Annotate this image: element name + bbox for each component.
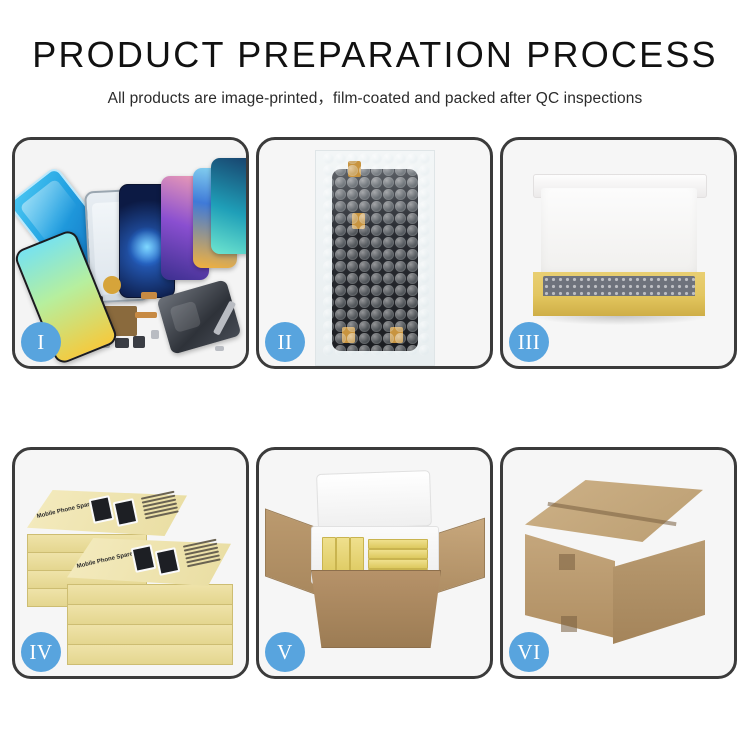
bubble [359, 225, 370, 236]
bubble [347, 165, 358, 176]
bubble [419, 225, 430, 236]
bubble [371, 249, 382, 260]
bubble [395, 309, 406, 320]
inner-yellow-box-6 [368, 559, 428, 569]
bubble [419, 237, 430, 248]
bubble [323, 165, 334, 176]
inner-yellow-box-4 [368, 539, 428, 549]
bubble [359, 189, 370, 200]
bubble [347, 201, 358, 212]
bubble [371, 285, 382, 296]
bubble [347, 321, 358, 332]
speaker-module-part-icon [103, 276, 121, 294]
bubble [323, 297, 334, 308]
bubble [383, 333, 394, 344]
bubble [359, 177, 370, 188]
bubble [323, 201, 334, 212]
bubble [335, 261, 346, 272]
kraft-box-front-icon [533, 296, 705, 316]
bubble [371, 225, 382, 236]
bubble [407, 309, 418, 320]
bubble [359, 345, 370, 356]
bubble [371, 177, 382, 188]
bubble [359, 153, 370, 164]
bubble [419, 177, 430, 188]
bubble [335, 237, 346, 248]
process-step-grid: I II III [12, 137, 738, 679]
bubble [419, 333, 430, 344]
process-step-panel-3[interactable]: III [500, 137, 737, 369]
bubble [335, 153, 346, 164]
bubble [359, 321, 370, 332]
bubble [335, 189, 346, 200]
bubble [419, 201, 430, 212]
bubble [419, 261, 430, 272]
bubble [383, 321, 394, 332]
carton-tape-patch-bottom-icon [561, 616, 577, 632]
step-badge-1: I [21, 322, 61, 362]
bubble [407, 177, 418, 188]
bubble [335, 285, 346, 296]
panel-4-illustration: Mobile Phone Spare Parts Mobile Phone Sp… [15, 450, 246, 676]
bubble [383, 285, 394, 296]
bubble [419, 165, 430, 176]
bubble [347, 225, 358, 236]
bubble [347, 309, 358, 320]
process-step-panel-2[interactable]: II [256, 137, 493, 369]
bubble [323, 273, 334, 284]
copper-connector-part-icon [141, 292, 157, 299]
step-badge-3: III [509, 322, 549, 362]
bubble [383, 273, 394, 284]
screw-small-part-icon [215, 346, 224, 351]
bubble [395, 321, 406, 332]
bubble [323, 285, 334, 296]
stacked-box-front-3 [67, 624, 233, 645]
bubble [419, 321, 430, 332]
bubble [323, 225, 334, 236]
bubble [395, 225, 406, 236]
panel-6-illustration: VI [503, 450, 734, 676]
bubble [419, 153, 430, 164]
bubble [371, 237, 382, 248]
bubble [395, 177, 406, 188]
panel-3-illustration: III [503, 140, 734, 366]
bubble [395, 249, 406, 260]
bubble [359, 201, 370, 212]
camera-module-part-icon [115, 338, 129, 348]
bubble [323, 153, 334, 164]
teal-gradient-phone-icon [211, 158, 246, 254]
bubble [323, 249, 334, 260]
bubble [383, 345, 394, 356]
bubble [335, 165, 346, 176]
panel-1-illustration: I [15, 140, 246, 366]
carton-body-icon [311, 570, 441, 648]
bubble [407, 237, 418, 248]
bubble [383, 213, 394, 224]
process-step-panel-1[interactable]: I [12, 137, 249, 369]
bubble [323, 333, 334, 344]
bubble [371, 321, 382, 332]
bubble [395, 345, 406, 356]
bubble [335, 225, 346, 236]
bubble [407, 273, 418, 284]
bubble [395, 165, 406, 176]
step-badge-2: II [265, 322, 305, 362]
bubble [407, 201, 418, 212]
bubble [323, 261, 334, 272]
carton-right-face-icon [613, 540, 705, 644]
bubble [371, 201, 382, 212]
bubble-wrap-bag-icon [315, 150, 435, 366]
bubble [347, 297, 358, 308]
bubble [335, 201, 346, 212]
white-foam-sheet-icon [541, 188, 697, 280]
bubble [359, 237, 370, 248]
bubble [347, 177, 358, 188]
carton-top-face-icon [525, 480, 703, 542]
bubble [407, 261, 418, 272]
bubble [383, 201, 394, 212]
bubble [383, 297, 394, 308]
bubble [323, 189, 334, 200]
bubble [407, 189, 418, 200]
bubble [371, 213, 382, 224]
bubble [407, 345, 418, 356]
bubble [323, 213, 334, 224]
bubble [359, 213, 370, 224]
bubble [383, 225, 394, 236]
step-badge-6: VI [509, 632, 549, 672]
bubble [383, 309, 394, 320]
bubble [419, 213, 430, 224]
bubble [359, 309, 370, 320]
panel-2-illustration: II [259, 140, 490, 366]
bubble [371, 273, 382, 284]
bubble [419, 309, 430, 320]
bubble-field [316, 151, 434, 365]
bubble [371, 345, 382, 356]
bubble [383, 261, 394, 272]
bubble [395, 273, 406, 284]
bubble [347, 213, 358, 224]
panel-5-illustration: V [259, 450, 490, 676]
bubble [371, 297, 382, 308]
bubble [407, 297, 418, 308]
bubble [371, 261, 382, 272]
page-header: PRODUCT PREPARATION PROCESS All products… [0, 0, 750, 108]
bubble [383, 237, 394, 248]
foam-box-lid-icon [316, 470, 432, 530]
bubble [395, 153, 406, 164]
bubble [395, 189, 406, 200]
bubble [419, 249, 430, 260]
stacked-box-front-4 [67, 644, 233, 665]
bubble [371, 165, 382, 176]
bubble [383, 189, 394, 200]
stacked-box-front-1 [67, 584, 233, 605]
bubble [395, 285, 406, 296]
bubble [419, 285, 430, 296]
step-badge-4: IV [21, 632, 61, 672]
process-step-panel-4[interactable]: Mobile Phone Spare Parts Mobile Phone Sp… [12, 447, 249, 679]
bubble [359, 333, 370, 344]
bubble [383, 153, 394, 164]
bubble [395, 201, 406, 212]
stacked-box-front-2 [67, 604, 233, 625]
bubble [347, 249, 358, 260]
bubble [347, 153, 358, 164]
bubble [323, 177, 334, 188]
bubble [395, 261, 406, 272]
bubble [323, 321, 334, 332]
bubble [371, 153, 382, 164]
bubble [347, 333, 358, 344]
bubble [347, 261, 358, 272]
bubble [407, 333, 418, 344]
inner-yellow-box-5 [368, 549, 428, 559]
bubble [359, 273, 370, 284]
bubble [335, 213, 346, 224]
bubble [395, 237, 406, 248]
box-shadow [533, 316, 707, 325]
bubble [395, 213, 406, 224]
bubble [419, 345, 430, 356]
process-step-panel-6[interactable]: VI [500, 447, 737, 679]
bubble [419, 297, 430, 308]
bubble [371, 333, 382, 344]
step-badge-5: V [265, 632, 305, 672]
bubble [347, 189, 358, 200]
bubble [359, 297, 370, 308]
bubble [407, 249, 418, 260]
vibrator-part-icon [133, 336, 145, 348]
bubble [371, 309, 382, 320]
bubble [371, 189, 382, 200]
bubble [335, 321, 346, 332]
bubble [395, 297, 406, 308]
bubble [359, 285, 370, 296]
ribbon-cable-part-icon [135, 312, 157, 318]
bubble [383, 177, 394, 188]
bubble [335, 309, 346, 320]
bubble [407, 285, 418, 296]
bubble [407, 321, 418, 332]
bubble [335, 333, 346, 344]
bubble [419, 273, 430, 284]
bubble [383, 165, 394, 176]
bubble [407, 165, 418, 176]
bubble [407, 225, 418, 236]
bubble [395, 333, 406, 344]
bubble [335, 345, 346, 356]
bubble [323, 345, 334, 356]
bubble [359, 261, 370, 272]
bubble [359, 249, 370, 260]
process-step-panel-5[interactable]: V [256, 447, 493, 679]
screw-part-icon [151, 330, 159, 339]
bubble [347, 285, 358, 296]
bubble [347, 345, 358, 356]
bubble [323, 309, 334, 320]
carton-tape-patch-top-icon [559, 554, 575, 570]
bubble [347, 237, 358, 248]
bubble [335, 297, 346, 308]
bubble [359, 165, 370, 176]
bubble [383, 249, 394, 260]
bubble [335, 273, 346, 284]
bubble [335, 249, 346, 260]
page-title: PRODUCT PREPARATION PROCESS [0, 36, 750, 74]
bubble [407, 153, 418, 164]
bubble [419, 189, 430, 200]
bubble [335, 177, 346, 188]
bubble [407, 213, 418, 224]
bubble [323, 237, 334, 248]
page-subtitle: All products are image-printed，film-coat… [0, 86, 750, 108]
bubble [347, 273, 358, 284]
